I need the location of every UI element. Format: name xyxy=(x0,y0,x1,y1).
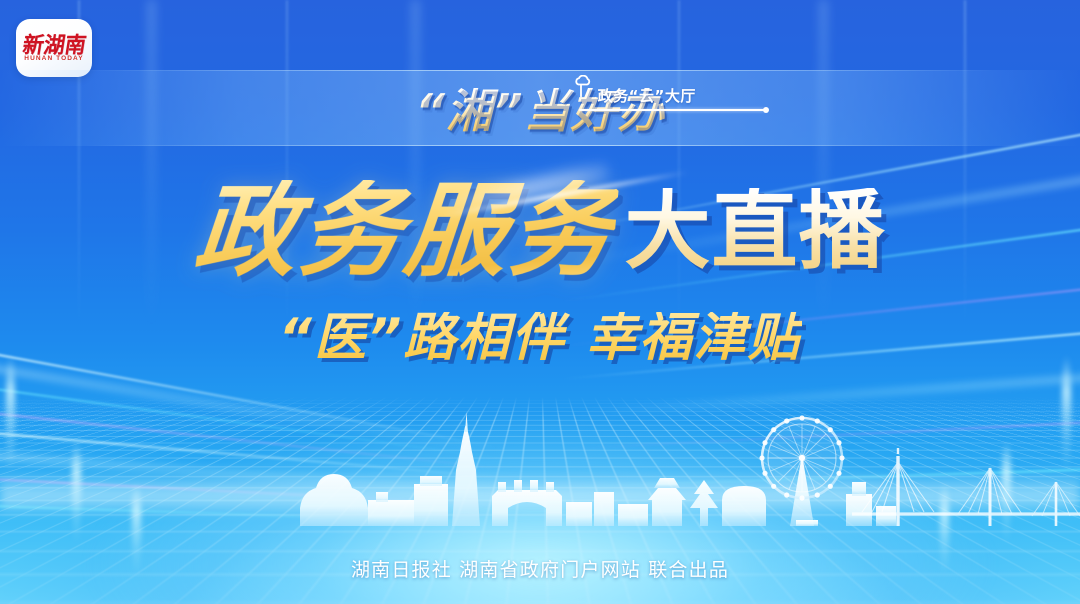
logo-mark-text: 新湖南 xyxy=(21,33,87,55)
main-title-bold-part: 大直播 xyxy=(625,188,886,274)
poster-stage: 新湖南 HUNAN TODAY “湘”当好办 政务“云”大厅 政务服务 大直播 xyxy=(0,0,1080,604)
cloud-icon xyxy=(573,75,595,104)
cloud-hall-badge-label: 政务“云”大厅 xyxy=(598,89,696,104)
footer-credits-text: 湖南日报社 湖南省政府门户网站 联合出品 xyxy=(351,559,729,581)
footer: 湖南日报社 湖南省政府门户网站 联合出品 xyxy=(0,555,1080,582)
hunan-today-logo[interactable]: 新湖南 HUNAN TODAY xyxy=(16,19,92,77)
subtitle: “医”路相伴 幸福津贴 xyxy=(0,306,1080,370)
badge-underline xyxy=(579,109,765,111)
top-title: “湘”当好办 政务“云”大厅 xyxy=(0,72,1080,150)
city-skyline-silhouette xyxy=(0,396,1080,526)
cloud-hall-badge: 政务“云”大厅 xyxy=(573,75,696,104)
subtitle-text: “医”路相伴 幸福津贴 xyxy=(278,312,801,364)
